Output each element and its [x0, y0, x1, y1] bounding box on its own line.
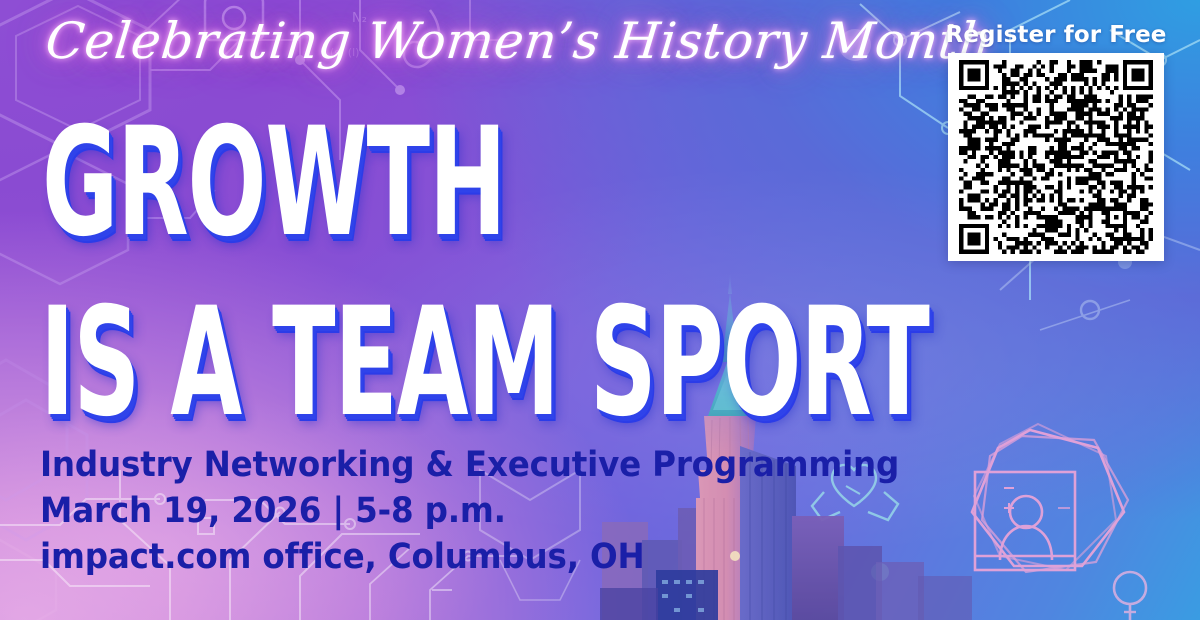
detail-line-datetime: March 19, 2026 | 5-8 p.m. — [40, 492, 899, 531]
register-qr-block[interactable]: Register for Free — [938, 22, 1174, 261]
detail-line-program: Industry Networking & Executive Programm… — [40, 446, 899, 485]
eyebrow-script-headline: Celebrating Women’s History Month — [43, 12, 995, 70]
detail-line-location: impact.com office, Columbus, OH — [40, 538, 899, 577]
qr-code-image[interactable] — [948, 53, 1164, 261]
event-details: Industry Networking & Executive Programm… — [40, 446, 964, 578]
headline-line-2: IS A TEAM SPORT — [40, 288, 929, 438]
event-promo-banner: N₂ (s) (l) — [0, 0, 1200, 620]
qr-label: Register for Free — [946, 22, 1167, 48]
headline-line-1: GROWTH — [42, 108, 505, 258]
